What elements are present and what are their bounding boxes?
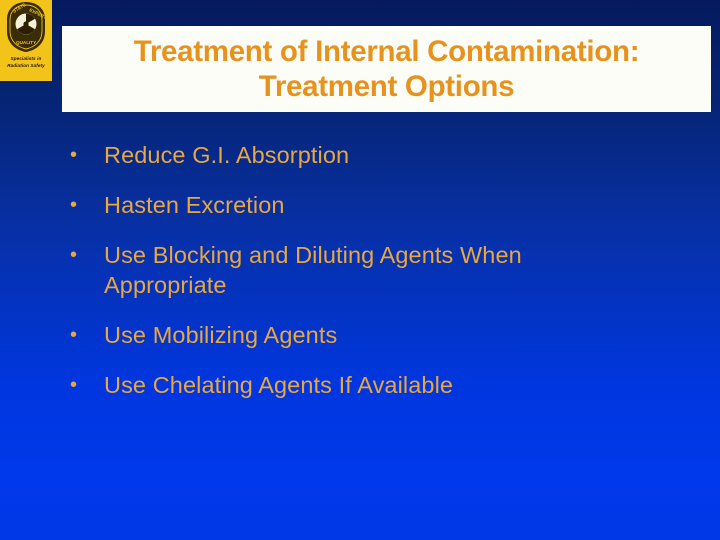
bullet-list: • Reduce G.I. Absorption • Hasten Excret… (70, 140, 670, 420)
list-item: • Reduce G.I. Absorption (70, 140, 670, 170)
list-item: • Use Blocking and Diluting Agents When … (70, 240, 670, 300)
list-item: • Use Chelating Agents If Available (70, 370, 670, 400)
list-item-text: Reduce G.I. Absorption (104, 140, 604, 170)
bullet-point-icon: • (70, 190, 104, 220)
bullet-point-icon: • (70, 140, 104, 170)
list-item: • Hasten Excretion (70, 190, 670, 220)
bullet-point-icon: • (70, 370, 104, 400)
radiation-badge-icon: STATE EXPERT QUALITY (4, 1, 48, 53)
logo-caption: Specialists in Radiation Safety (0, 55, 52, 69)
presentation-slide: STATE EXPERT QUALITY Specialists in Radi… (0, 0, 720, 540)
list-item-text: Use Blocking and Diluting Agents When Ap… (104, 240, 604, 300)
bullet-point-icon: • (70, 240, 104, 270)
list-item-text: Use Chelating Agents If Available (104, 370, 604, 400)
list-item: • Use Mobilizing Agents (70, 320, 670, 350)
slide-title: Treatment of Internal Contamination: Tre… (62, 34, 711, 104)
slide-title-box: Treatment of Internal Contamination: Tre… (62, 26, 711, 112)
list-item-text: Hasten Excretion (104, 190, 604, 220)
list-item-text: Use Mobilizing Agents (104, 320, 604, 350)
organization-logo: STATE EXPERT QUALITY Specialists in Radi… (0, 0, 52, 81)
svg-text:QUALITY: QUALITY (16, 40, 36, 45)
bullet-point-icon: • (70, 320, 104, 350)
